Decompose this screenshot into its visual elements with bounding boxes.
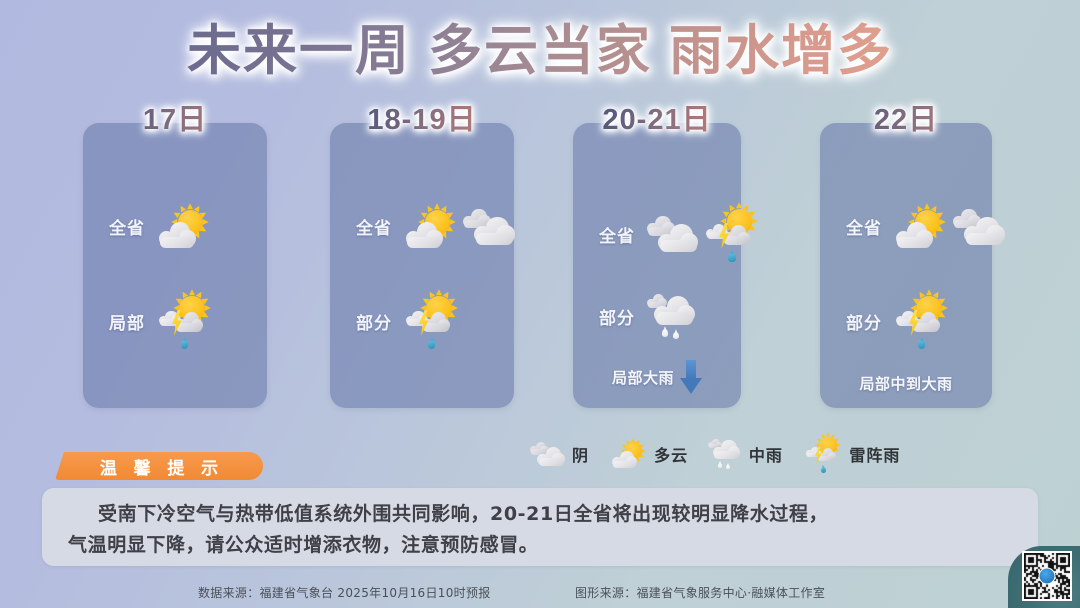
cloud-icon	[406, 221, 443, 244]
qr-logo-icon	[1039, 568, 1056, 585]
forecast-row-icons	[145, 201, 212, 253]
forecast-row: 部分	[820, 288, 992, 354]
forecast-row-label: 部分	[330, 309, 392, 334]
cloud-icon	[713, 440, 740, 457]
raindrop-icon	[821, 467, 826, 473]
cloudy-icon	[647, 210, 700, 258]
cloud-icon	[474, 216, 514, 241]
raindrop-icon	[718, 463, 722, 468]
forecast-row-label: 全省	[83, 214, 145, 239]
forecast-card[interactable]: 20-21日全省部分局部大雨	[573, 123, 741, 408]
footer-graphic-source: 图形来源：福建省气象服务中心·融媒体工作室	[575, 584, 825, 601]
moderate-rain-icon	[708, 435, 743, 473]
qr-code[interactable]	[1022, 551, 1072, 601]
cloud-icon	[537, 447, 564, 464]
card-note-label: 局部大雨	[612, 367, 674, 388]
forecast-row-icons	[882, 288, 951, 354]
tips-text-line-2: 气温明显下降，请公众适时增添衣物，注意预防感冒。	[68, 530, 1012, 561]
forecast-card[interactable]: 17日全省局部	[83, 123, 267, 408]
forecast-card-list: 17日全省局部18-19日全省部分20-21日全省部分局部大雨22日全省部分局部…	[0, 123, 1080, 408]
forecast-row-label: 部分	[573, 304, 635, 329]
thunderstorm-icon	[805, 432, 843, 477]
forecast-row: 全省	[573, 201, 741, 267]
legend-item: 多云	[611, 437, 688, 472]
card-date-label: 18-19日	[330, 96, 514, 138]
raindrop-icon	[918, 340, 925, 348]
legend-item-label: 雷阵雨	[849, 442, 900, 466]
cloud-icon	[612, 450, 637, 465]
legend-item-label: 阴	[572, 442, 589, 466]
thunderstorm-icon	[157, 288, 214, 354]
card-date-label: 17日	[83, 96, 267, 138]
forecast-row-icons	[882, 201, 1007, 253]
forecast-row-label: 全省	[330, 214, 392, 239]
qr-code-backdrop	[1008, 546, 1080, 608]
cloud-icon	[964, 216, 1004, 241]
legend-item: 雷阵雨	[805, 432, 900, 477]
forecast-row-label: 全省	[573, 222, 635, 247]
moderate-rain-icon	[647, 288, 699, 345]
cloudy-icon	[953, 203, 1006, 251]
legend-item-label: 多云	[654, 442, 688, 466]
raindrop-icon	[428, 340, 435, 348]
cloud-icon	[159, 221, 196, 244]
thunderstorm-icon	[704, 201, 761, 267]
forecast-card[interactable]: 22日全省部分局部中到大雨	[820, 123, 992, 408]
raindrop-icon	[181, 340, 188, 348]
forecast-row-icons	[635, 201, 761, 267]
partly-cloudy-icon	[404, 201, 459, 253]
cloud-icon	[896, 221, 933, 244]
forecast-row-label: 部分	[820, 309, 882, 334]
temperature-drop-arrow-icon	[680, 360, 702, 394]
forecast-row: 部分	[573, 288, 741, 345]
partly-cloudy-icon	[157, 201, 212, 253]
raindrop-icon	[726, 465, 730, 470]
raindrop-icon	[673, 332, 679, 339]
forecast-row-label: 全省	[820, 214, 882, 239]
legend-item: 中雨	[708, 435, 783, 473]
legend-item: 阴	[530, 438, 589, 470]
forecast-row: 全省	[330, 201, 514, 253]
legend-item-label: 中雨	[749, 442, 783, 466]
card-date-label: 20-21日	[573, 96, 741, 138]
page-title: 未来一周 多云当家 雨水增多	[187, 22, 893, 81]
forecast-row-label: 局部	[83, 309, 145, 334]
card-note: 局部大雨	[573, 360, 741, 394]
forecast-row-icons	[392, 288, 461, 354]
raindrop-icon	[728, 253, 735, 261]
tips-badge-label: 温 馨 提 示	[94, 454, 224, 479]
forecast-row-icons	[145, 288, 214, 354]
header: 未来一周 多云当家 雨水增多	[0, 22, 1080, 81]
cloud-icon	[654, 295, 694, 320]
forecast-row: 全省	[820, 201, 992, 253]
cloudy-icon	[530, 438, 566, 470]
partly-cloudy-icon	[611, 437, 648, 472]
cloudy-icon	[463, 203, 516, 251]
tips-card: 受南下冷空气与热带低值系统外围共同影响，20-21日全省将出现较明显降水过程， …	[42, 488, 1038, 566]
card-note-label: 局部中到大雨	[859, 373, 952, 394]
forecast-row: 局部	[83, 288, 267, 354]
tips-text-line-1: 受南下冷空气与热带低值系统外围共同影响，20-21日全省将出现较明显降水过程，	[68, 499, 1012, 530]
raindrop-icon	[662, 329, 668, 336]
cloud-icon	[658, 223, 698, 248]
footer-data-source: 数据来源：福建省气象台 2025年10月16日10时预报	[198, 584, 491, 601]
thunderstorm-icon	[894, 288, 951, 354]
tips-badge: 温 馨 提 示	[55, 452, 263, 480]
forecast-row: 部分	[330, 288, 514, 354]
card-note: 局部中到大雨	[820, 373, 992, 394]
partly-cloudy-icon	[894, 201, 949, 253]
footer: 数据来源：福建省气象台 2025年10月16日10时预报 图形来源：福建省气象服…	[0, 576, 1080, 608]
card-date-label: 22日	[820, 96, 992, 138]
weather-legend: 阴多云中雨雷阵雨	[530, 424, 1040, 484]
thunderstorm-icon	[404, 288, 461, 354]
forecast-row-icons	[635, 288, 699, 345]
forecast-row: 全省	[83, 201, 267, 253]
forecast-row-icons	[392, 201, 517, 253]
forecast-card[interactable]: 18-19日全省部分	[330, 123, 514, 408]
